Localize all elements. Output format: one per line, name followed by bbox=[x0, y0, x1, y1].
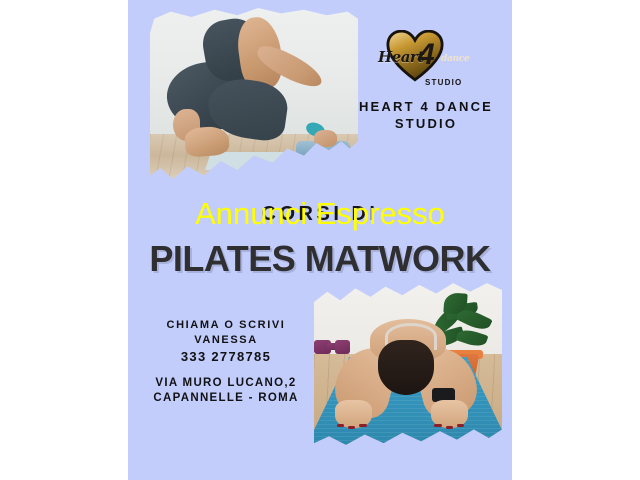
contact-call-line: CHIAMA O SCRIVI bbox=[140, 318, 312, 333]
logo-numeral-4: 4 bbox=[418, 40, 435, 70]
heart-4-dance-logo: Heart 4 dance STUDIO bbox=[372, 28, 482, 90]
contact-block: CHIAMA O SCRIVI VANESSA 333 2778785 VIA … bbox=[140, 318, 312, 406]
kicker-text: CORSI DI bbox=[128, 203, 512, 226]
contact-name: VANESSA bbox=[140, 333, 312, 348]
photo-woman-in-childs-pose bbox=[314, 278, 502, 450]
fingernails bbox=[348, 426, 356, 429]
contact-phone[interactable]: 333 2778785 bbox=[140, 348, 312, 366]
brand-name-line-2: STUDIO bbox=[340, 115, 512, 132]
photo-woman-with-rolled-mat bbox=[150, 8, 358, 188]
flat-yoga-mat bbox=[205, 152, 358, 170]
logo-script-word: Heart bbox=[378, 48, 424, 66]
brand-name: HEART 4 DANCE STUDIO bbox=[340, 98, 512, 132]
hand-on-mat bbox=[314, 130, 337, 146]
contact-address-line-2: CAPANNELLE - ROMA bbox=[140, 391, 312, 406]
fingernails bbox=[446, 426, 454, 429]
logo-dance-word: dance bbox=[441, 54, 469, 64]
screenshot-stage: Heart 4 dance STUDIO HEART 4 DANCE STUDI… bbox=[0, 0, 640, 480]
fingernails bbox=[434, 424, 442, 427]
hair bbox=[378, 340, 434, 395]
fingernails bbox=[337, 424, 345, 427]
brand-name-line-1: HEART 4 DANCE bbox=[340, 98, 512, 115]
page-title: PILATES MATWORK bbox=[128, 238, 512, 280]
dumbbell bbox=[335, 340, 350, 354]
pilates-poster: Heart 4 dance STUDIO HEART 4 DANCE STUDI… bbox=[128, 0, 512, 480]
logo-studio-word: STUDIO bbox=[425, 78, 462, 87]
contact-address-line-1: VIA MURO LUCANO,2 bbox=[140, 376, 312, 391]
fingernails bbox=[359, 424, 367, 427]
bare-foot bbox=[184, 125, 230, 157]
photo-top-scene bbox=[150, 8, 358, 188]
fingernails bbox=[457, 424, 465, 427]
